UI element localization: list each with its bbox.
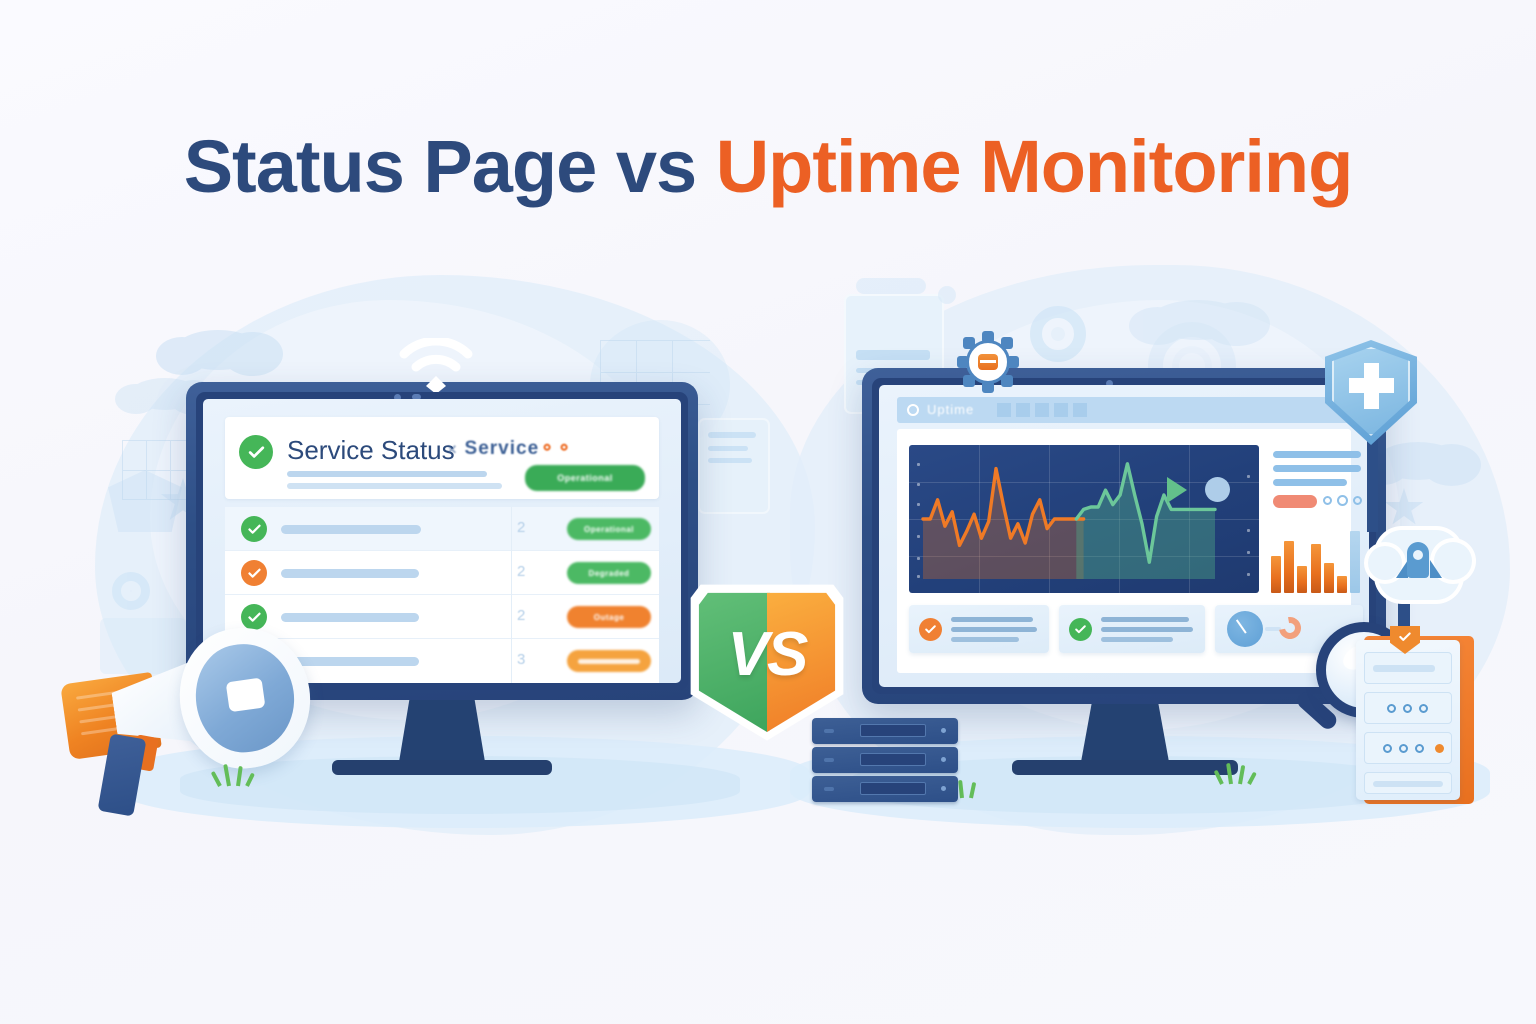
topbar-label: Uptime [927,402,974,417]
brand-text: Service [465,438,540,459]
background-dot [938,286,956,304]
bar [1337,576,1347,593]
monitor-base [1012,760,1238,775]
check-circle-icon [1069,618,1092,641]
status-card[interactable] [1059,605,1205,653]
response-time-chart [909,445,1259,593]
screen-body [897,429,1351,673]
page-title: Status Page vs Uptime Monitoring [0,124,1536,209]
illustration-canvas: Status Page vs Uptime Monitoring [0,0,1536,1024]
bar-chart [1271,525,1367,593]
row-count: 2 [517,519,525,536]
background-cloud-icon [1150,300,1246,340]
bar [1284,541,1294,593]
ring-icon [1337,495,1348,506]
service-status-header: Service Status ✕ Service⚬⚬ Operational [225,417,659,499]
chart-marker-dot [1205,477,1230,502]
gear-settings-icon [960,334,1016,390]
skeleton-line [281,613,419,622]
row-count: 2 [517,563,525,580]
skeleton-line [1273,451,1361,458]
screen-topbar: Uptime [897,397,1351,423]
monitor-base [332,760,552,775]
vs-label: VS [684,578,850,744]
status-badge[interactable]: Degraded [567,562,651,584]
background-doc-panel [700,420,768,512]
status-card[interactable] [909,605,1049,653]
list-item[interactable] [1364,732,1452,764]
ring-icon [1323,496,1332,505]
check-circle-icon [241,560,267,586]
table-row[interactable]: 2 Degraded [225,551,659,595]
title-part-dark: Status Page vs [184,125,716,208]
table-row[interactable]: 2 Operational [225,507,659,551]
topbar-dot-icon [907,404,919,416]
bar [1271,556,1281,593]
vs-badge: VS [684,578,850,744]
wifi-icon [398,338,474,392]
side-panel-group [1356,636,1474,808]
background-cloud-icon [175,330,261,370]
status-badge[interactable]: Operational [525,465,645,491]
bar [1324,563,1334,593]
chart-svg [909,445,1259,593]
panel-card [1356,640,1460,800]
row-count: 2 [517,607,525,624]
list-item[interactable] [1364,692,1452,724]
brand-label: ✕ Service⚬⚬ [446,437,573,460]
background-grid [122,440,194,500]
bar [1350,531,1360,593]
monitor-neck [399,700,485,762]
check-circle-icon [241,604,267,630]
grass-decor [218,762,258,786]
shield-cross-icon [1325,340,1417,445]
rocket-cloud-icon [1378,530,1460,600]
skeleton-line [1273,465,1361,472]
shield-pole [1367,436,1378,532]
skeleton-line [281,569,419,578]
bar [1311,544,1321,593]
background-cloud-icon [1376,442,1460,480]
list-item[interactable] [1364,772,1452,794]
topbar-blocks [997,403,1087,417]
list-item[interactable] [1364,652,1452,684]
screen-title: Service Status [287,435,455,466]
check-circle-icon [919,618,942,641]
monitor-neck [1081,704,1169,762]
check-circle-icon [239,435,273,469]
row-count: 3 [517,651,525,668]
skeleton-line [281,525,421,534]
column-divider [511,507,512,683]
brand-accent: ⚬⚬ [539,438,573,459]
grass-decor [1220,760,1260,784]
background-gear-icon [112,572,150,610]
play-icon[interactable] [1167,477,1187,503]
skeleton-line [287,471,487,477]
check-circle-icon [241,516,267,542]
megaphone-icon [62,628,330,818]
skeleton-line [287,483,502,489]
status-badge[interactable]: Outage [567,606,651,628]
bar [1297,566,1307,593]
background-gear-icon [1030,306,1086,362]
title-part-orange: Uptime Monitoring [716,125,1353,208]
skeleton-line [1273,479,1347,486]
status-badge[interactable]: Operational [567,518,651,540]
megaphone-horn [171,620,319,777]
status-badge[interactable] [567,650,651,672]
gauge-icon [1227,611,1263,647]
background-pill [856,278,926,294]
ring-icon [1353,496,1362,505]
alert-pill [1273,495,1317,508]
